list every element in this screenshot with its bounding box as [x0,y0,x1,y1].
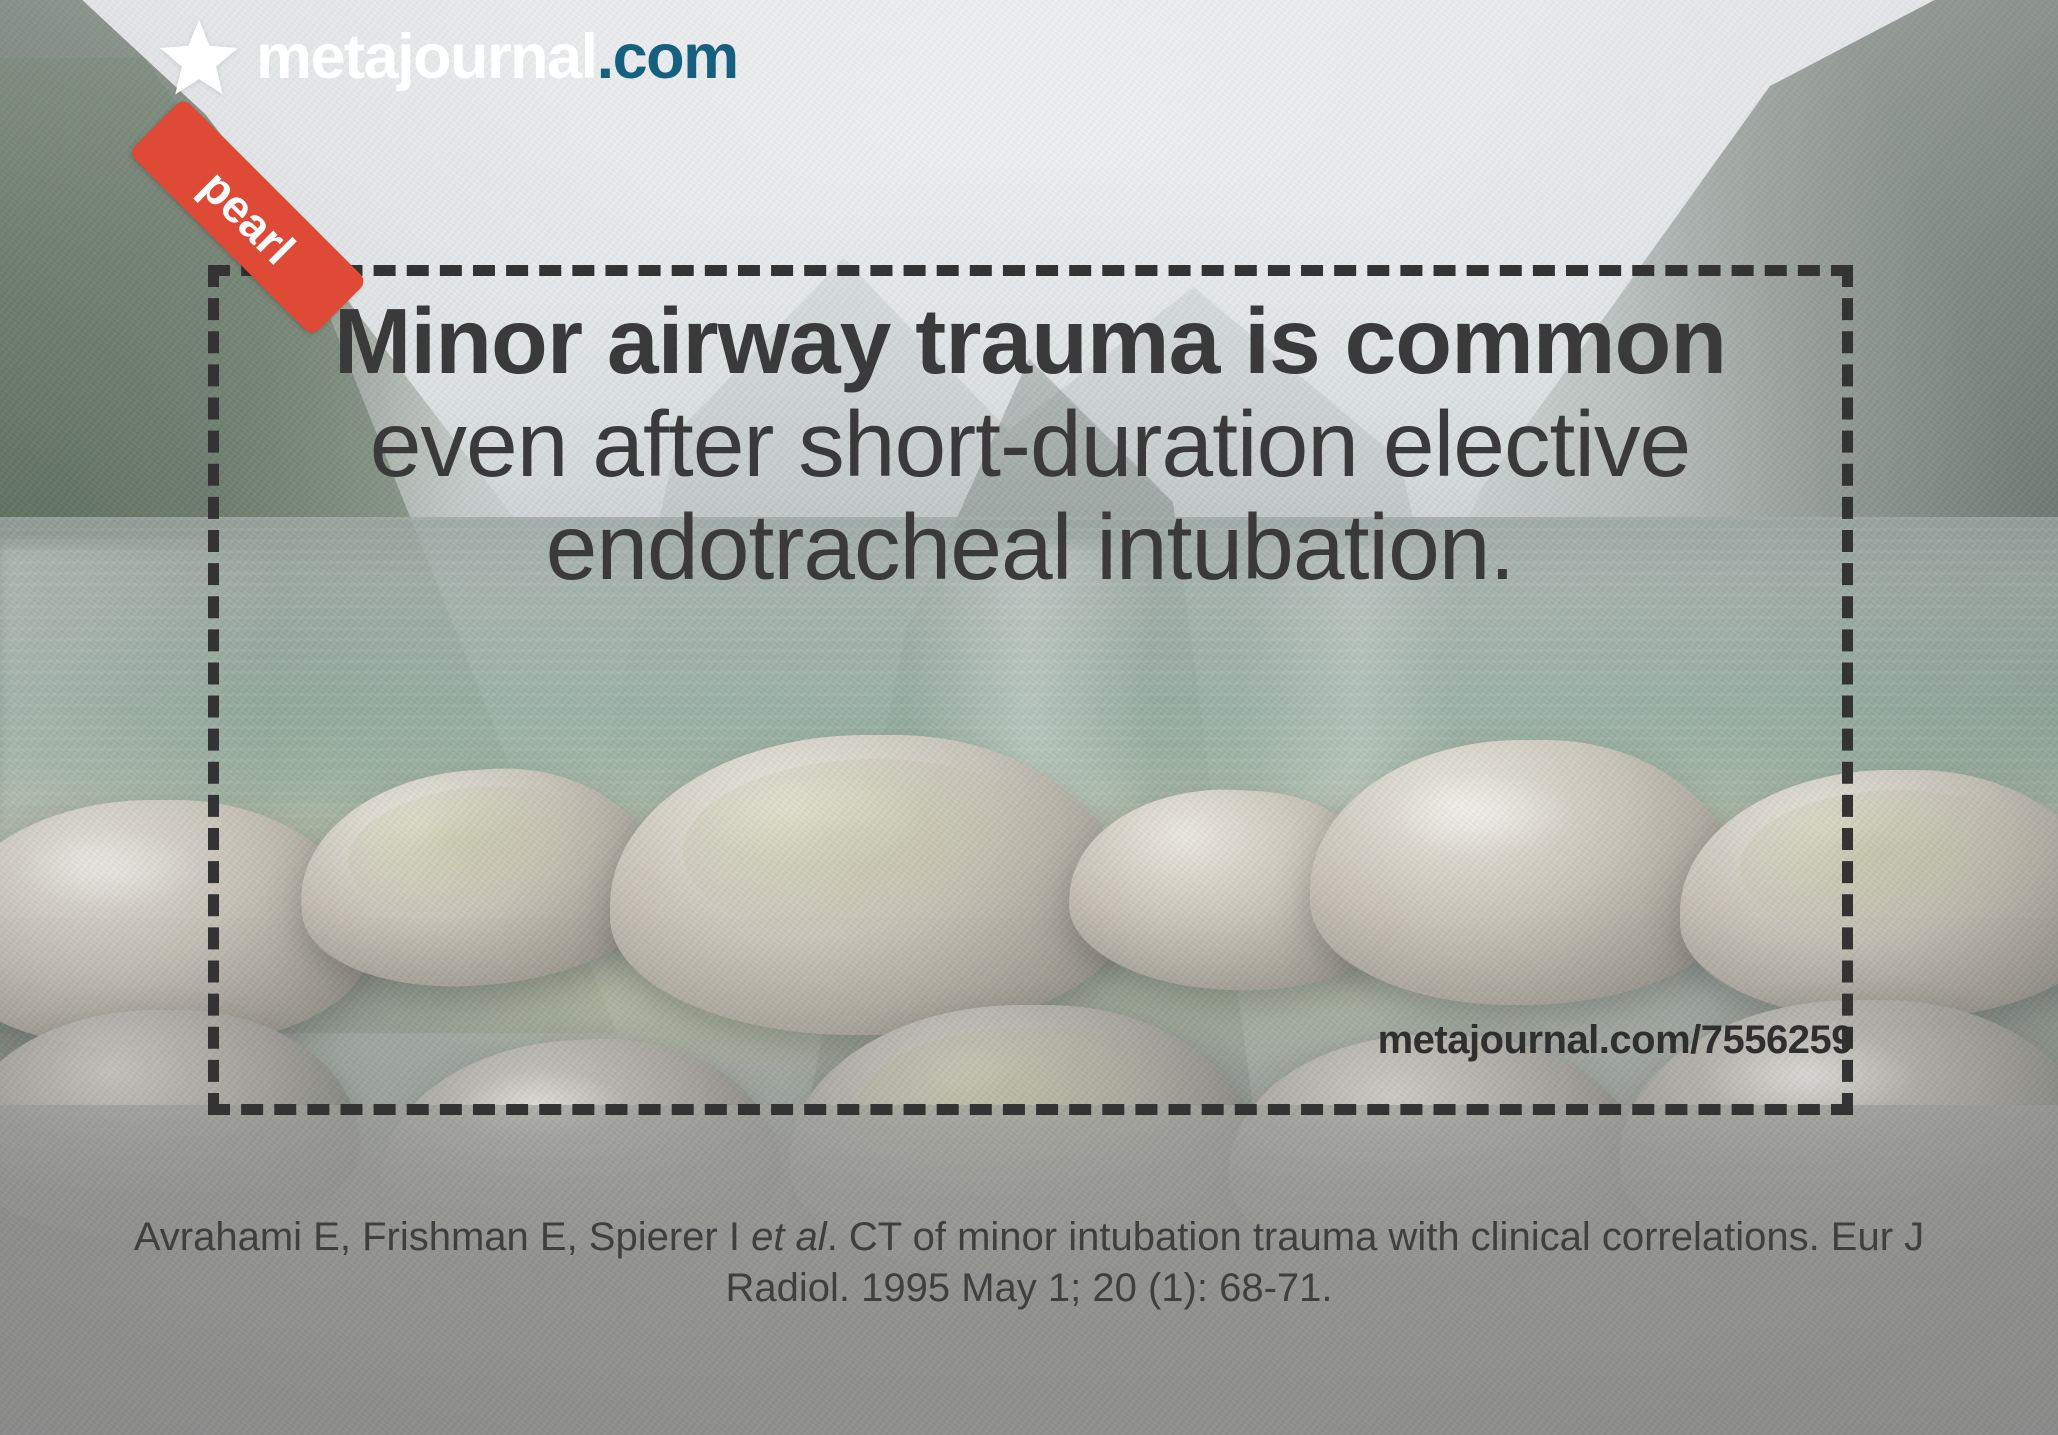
source-url-link[interactable]: metajournal.com/7556259 [1378,1018,1853,1063]
pearl-quote-card: metajournal.com pearl Minor airway traum… [0,0,2058,1435]
citation-title: . CT of minor intubation trauma with cli… [725,1215,1924,1310]
quote-remainder: even after short-duration elective endot… [370,392,1690,599]
brand-tld: .com [597,22,738,92]
quote-highlight: Minor airway trauma is common [334,289,1726,393]
citation-et-al: et al [751,1215,827,1259]
pearl-quote-text: Minor airway trauma is common even after… [255,290,1805,600]
brand-logo[interactable]: metajournal.com [160,18,738,96]
citation-authors: Avrahami E, Frishman E, Spierer I [134,1215,751,1259]
brand-wordmark: metajournal.com [256,26,738,89]
citation-reference: Avrahami E, Frishman E, Spierer I et al.… [120,1212,1938,1314]
star-icon [160,18,238,96]
brand-name: metajournal [256,22,597,92]
